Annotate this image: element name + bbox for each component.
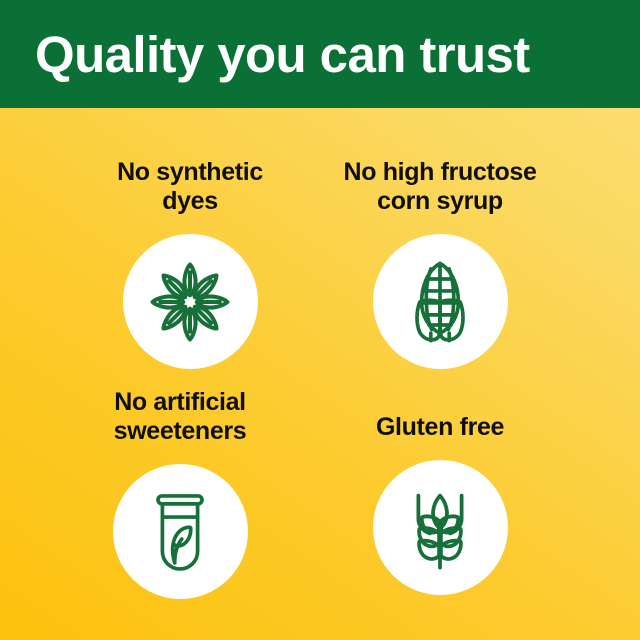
page-title: Quality you can trust — [35, 29, 530, 80]
dye-splatter-icon — [142, 254, 238, 350]
corn-cob-icon — [394, 256, 486, 348]
icon-disc — [123, 234, 258, 369]
header-band: Quality you can trust — [0, 0, 640, 108]
icon-disc — [373, 460, 508, 595]
claim-label: No artificial sweeteners — [114, 388, 247, 446]
claim-label: No synthetic dyes — [117, 158, 263, 216]
claim-label: No high fructose corn syrup — [343, 158, 536, 216]
claim-label: Gluten free — [376, 413, 504, 442]
quality-infographic: Quality you can trust No synthetic dyes — [0, 0, 640, 640]
icon-disc — [113, 464, 248, 599]
wheat-stalk-icon — [395, 483, 485, 573]
claim-gluten-free: Gluten free — [280, 413, 600, 595]
claim-no-high-fructose-corn-syrup: No high fructose corn syrup — [280, 158, 600, 369]
icon-disc — [373, 234, 508, 369]
claims-grid: No synthetic dyes — [0, 108, 640, 640]
test-tube-leaf-icon — [136, 488, 224, 576]
